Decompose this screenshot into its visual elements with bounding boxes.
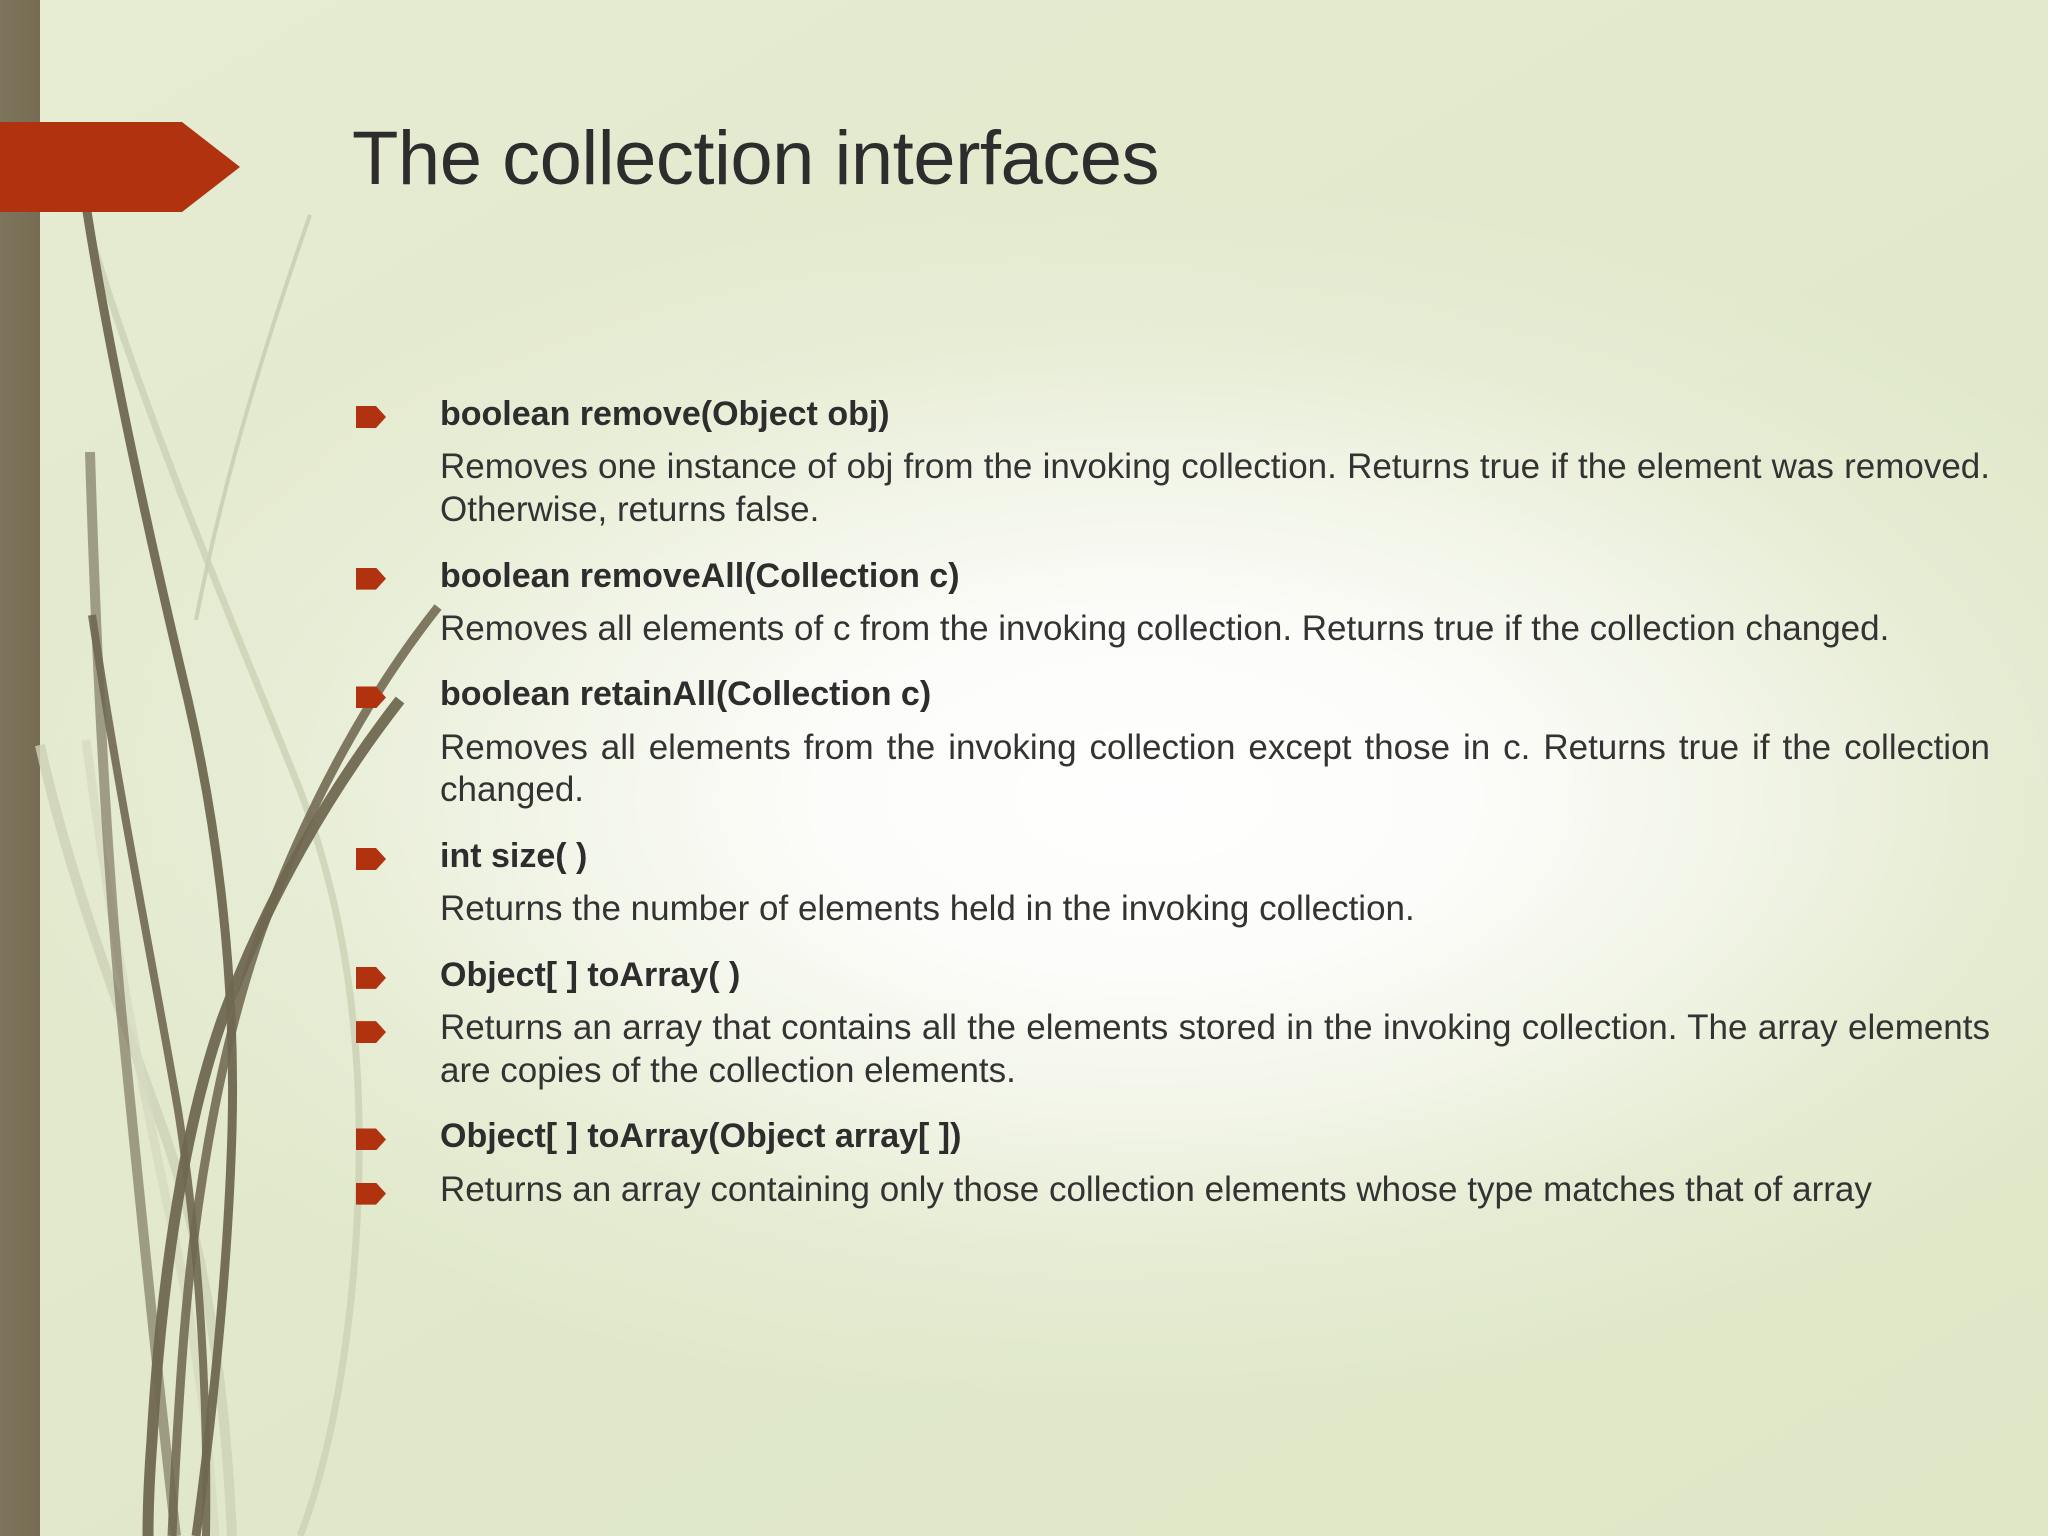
method-description: Removes all elements of c from the invok… [386,608,1990,651]
method-description: Returns an array containing only those c… [386,1169,1990,1212]
method-signature: boolean removeAll(Collection c) [386,554,1990,598]
bullet-spacer [356,622,386,644]
method-description: Returns the number of elements held in t… [386,888,1990,931]
list-item: Removes one instance of obj from the inv… [356,446,1990,531]
arrow-pentagon-marker-icon [356,568,386,590]
method-description: Removes all elements from the invoking c… [386,727,1990,812]
list-item: int size( ) [356,834,1990,878]
list-item: boolean remove(Object obj) [356,392,1990,436]
bullet-spacer [356,902,386,924]
bullet-spacer [356,460,386,482]
method-signature: boolean retainAll(Collection c) [386,672,1990,716]
list-item: boolean removeAll(Collection c) [356,554,1990,598]
method-description: Returns an array that contains all the e… [386,1007,1990,1092]
arrow-pentagon-marker-icon [356,848,386,870]
bullet-spacer [356,741,386,763]
list-item: Object[ ] toArray( ) [356,953,1990,997]
list-item: Removes all elements from the invoking c… [356,727,1990,812]
title-accent-arrow-banner [0,122,240,212]
list-item: Removes all elements of c from the invok… [356,608,1990,651]
arrow-pentagon-marker-icon [356,967,386,989]
list-item: Returns an array containing only those c… [356,1169,1990,1212]
list-item: boolean retainAll(Collection c) [356,672,1990,716]
arrow-pentagon-marker-icon [356,686,386,708]
list-item: Returns the number of elements held in t… [356,888,1990,931]
left-olive-band [0,0,40,1536]
slide: The collection interfaces boolean remove… [0,0,2048,1536]
arrow-pentagon-marker-icon [356,406,386,428]
arrow-pentagon-marker-icon [356,1128,386,1150]
arrow-pentagon-marker-icon [356,1183,386,1205]
method-signature: boolean remove(Object obj) [386,392,1990,436]
method-signature: Object[ ] toArray(Object array[ ]) [386,1114,1990,1158]
list-item: Object[ ] toArray(Object array[ ]) [356,1114,1990,1158]
slide-body-content: boolean remove(Object obj) Removes one i… [356,392,1990,1233]
method-signature: int size( ) [386,834,1990,878]
list-item: Returns an array that contains all the e… [356,1007,1990,1092]
arrow-pentagon-marker-icon [356,1021,386,1043]
method-signature: Object[ ] toArray( ) [386,953,1990,997]
method-description: Removes one instance of obj from the inv… [386,446,1990,531]
page-title: The collection interfaces [352,118,1992,200]
